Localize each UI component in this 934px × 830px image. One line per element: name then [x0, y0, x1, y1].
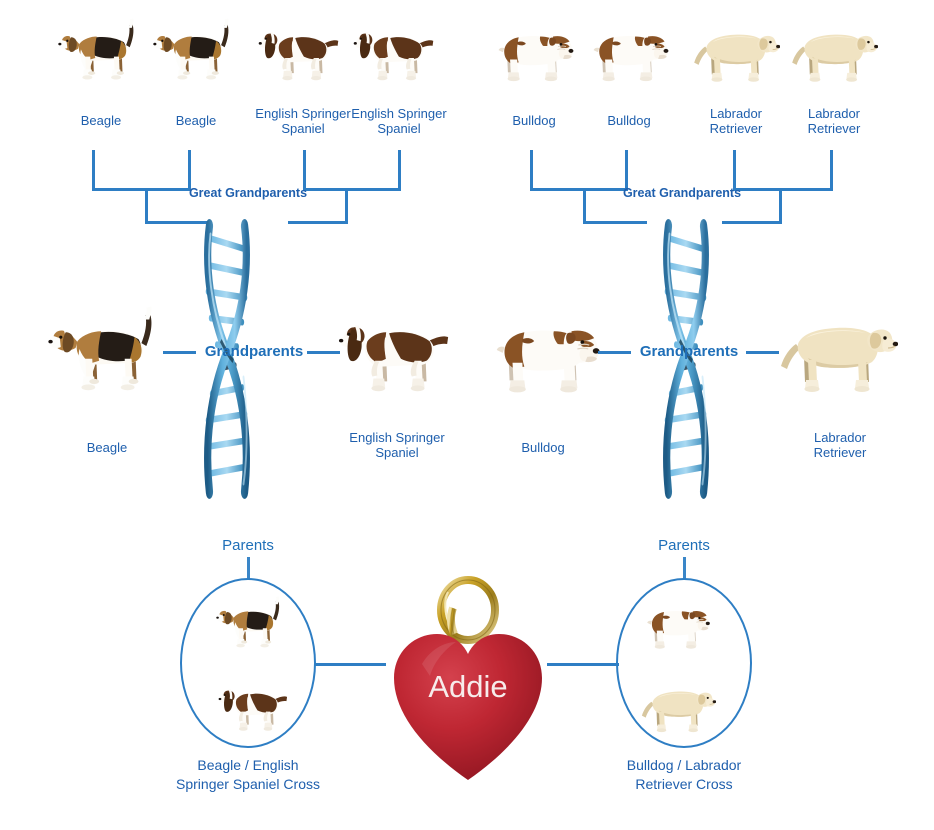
great-grandparent-label-3: English Springer Spaniel — [248, 106, 358, 136]
bracket-drop-ggp-pair-a — [145, 188, 148, 224]
grandparent-label-2: English Springer Spaniel — [342, 430, 452, 460]
grandparents-label-left: Grandparents — [182, 343, 326, 360]
great-grandparent-dog-3 — [258, 6, 344, 90]
parents-label-right: Parents — [634, 537, 734, 554]
grandparent-dog-1 — [48, 292, 166, 402]
great-grandparent-dog-2 — [153, 8, 239, 88]
great-grandparent-label-4: English Springer Spaniel — [344, 106, 454, 136]
bracket-line-ggp-5 — [530, 150, 533, 188]
parent-dog-left-1 — [216, 588, 288, 654]
bracket-line-ggp-8 — [830, 150, 833, 188]
great-grandparent-dog-8 — [790, 6, 878, 90]
great-grandparent-label-7: Labrador Retriever — [686, 106, 786, 136]
parent-dog-left-2 — [218, 668, 292, 738]
tag-heart-shape — [394, 634, 542, 780]
great-grandparents-label-right: Great Grandparents — [602, 186, 762, 200]
bracket-line-ggp-3 — [303, 150, 306, 188]
parent-heart-connector-left — [314, 663, 386, 666]
bracket-line-ggp-6 — [625, 150, 628, 188]
bracket-line-ggp-4 — [398, 150, 401, 188]
grandparent-label-3: Bulldog — [493, 440, 593, 455]
great-grandparent-label-1: Beagle — [51, 113, 151, 128]
bracket-line-ggp-2 — [188, 150, 191, 188]
grandparent-dog-2 — [338, 288, 456, 406]
great-grandparent-label-2: Beagle — [146, 113, 246, 128]
bracket-merge-ggp-pair-b — [288, 221, 348, 224]
parent-heart-connector-right — [547, 663, 619, 666]
grandparent-dog-4 — [778, 288, 898, 404]
great-grandparent-dog-1 — [58, 8, 144, 88]
great-grandparents-label-left: Great Grandparents — [168, 186, 328, 200]
grandparents-label-right: Grandparents — [617, 343, 761, 360]
great-grandparent-dog-6 — [585, 8, 671, 88]
bracket-merge-ggp-pair-d — [722, 221, 782, 224]
subject-heart-tag: Addie — [382, 572, 554, 790]
tag-name-text: Addie — [428, 669, 507, 704]
grandparent-label-1: Beagle — [57, 440, 157, 455]
parents-stem-right — [683, 557, 686, 579]
great-grandparent-label-8: Labrador Retriever — [784, 106, 884, 136]
bracket-drop-ggp-pair-d — [779, 188, 782, 224]
parents-label-left: Parents — [198, 537, 298, 554]
dna-helix-right — [655, 218, 717, 504]
grandparent-label-4: Labrador Retriever — [785, 430, 895, 460]
great-grandparent-label-5: Bulldog — [484, 113, 584, 128]
bracket-drop-ggp-pair-b — [345, 188, 348, 224]
parents-caption-right: Bulldog / Labrador Retriever Cross — [604, 756, 764, 794]
great-grandparent-dog-7 — [692, 6, 780, 90]
dna-helix-left — [196, 218, 258, 504]
great-grandparent-label-6: Bulldog — [579, 113, 679, 128]
parents-caption-left: Beagle / English Springer Spaniel Cross — [168, 756, 328, 794]
bracket-line-ggp-7 — [733, 150, 736, 188]
bracket-merge-ggp-pair-c — [583, 221, 647, 224]
bracket-line-ggp-1 — [92, 150, 95, 188]
parents-stem-left — [247, 557, 250, 579]
parent-dog-right-2 — [640, 668, 716, 738]
pedigree-diagram: Beagle Beagle English Springer Spaniel E… — [0, 0, 934, 830]
great-grandparent-dog-4 — [353, 6, 439, 90]
parent-dog-right-1 — [640, 588, 712, 654]
grandparent-dog-3 — [485, 292, 603, 402]
bracket-drop-ggp-pair-c — [583, 188, 586, 224]
great-grandparent-dog-5 — [490, 8, 576, 88]
